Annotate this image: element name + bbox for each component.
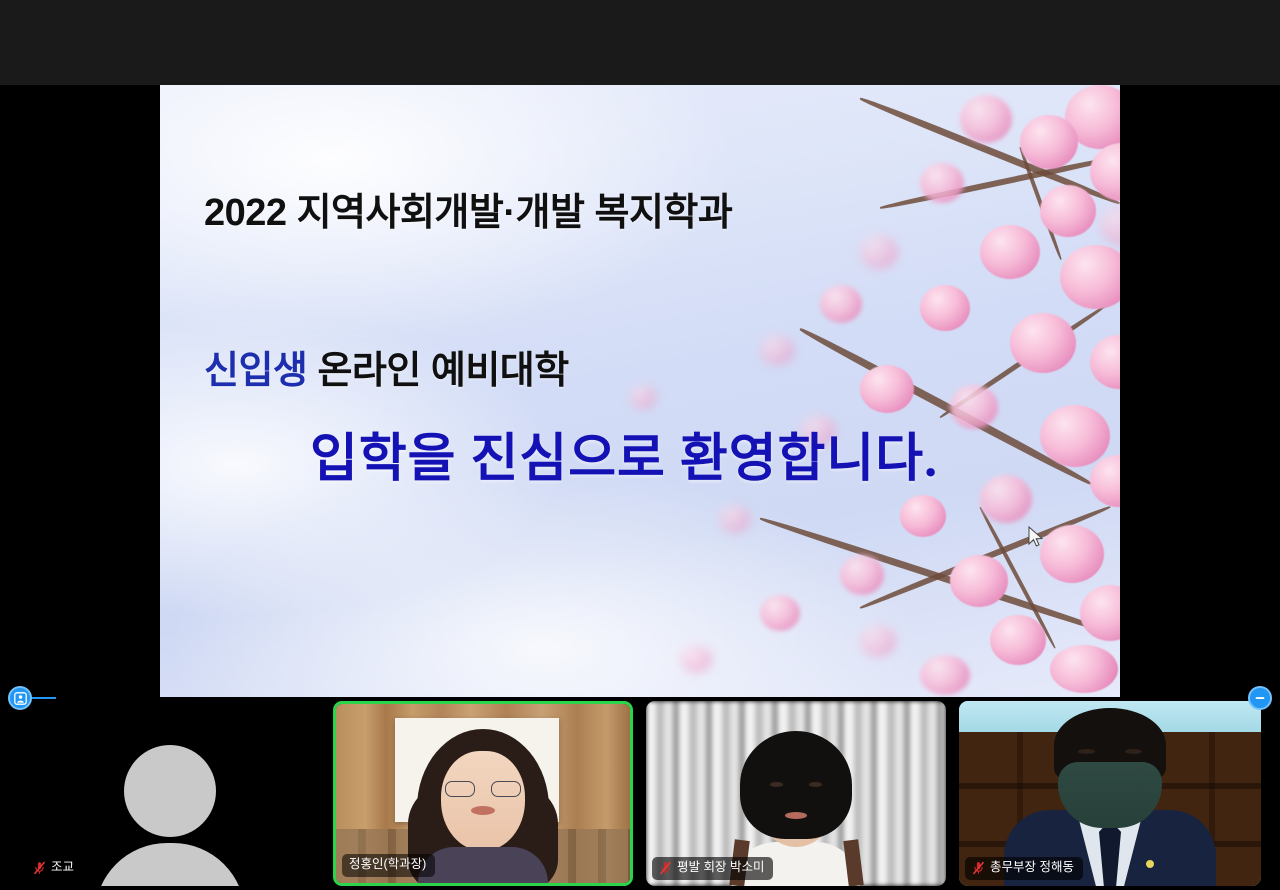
participant-filmstrip: 조교 정홍인(학과장) <box>0 697 1280 890</box>
mic-muted-icon <box>972 861 985 875</box>
participant-tile-1[interactable]: 조교 <box>20 701 320 886</box>
view-badge-stem <box>30 697 56 699</box>
minimize-button[interactable] <box>1248 686 1272 710</box>
participant-name-3: 평발 회장 박소미 <box>677 860 764 876</box>
participant-namebar-3: 평발 회장 박소미 <box>652 857 773 880</box>
participant-name-4: 총무부장 정해동 <box>990 860 1074 876</box>
participant-name-1: 조교 <box>51 860 74 876</box>
slide-title-line2-rest: 온라인 예비대학 <box>307 350 568 392</box>
participant-namebar-4: 총무부장 정해동 <box>965 857 1083 880</box>
participant-tile-3[interactable]: 평발 회장 박소미 <box>646 701 946 886</box>
participant-name-2: 정홍인(학과장) <box>349 857 426 873</box>
participant-tile-2[interactable]: 정홍인(학과장) <box>333 701 633 886</box>
slide-slogan: 입학을 진심으로 환영합니다. <box>310 430 1010 490</box>
mic-muted-icon <box>33 861 46 875</box>
shared-screen-stage[interactable]: 2022 지역사회개발·개발 복지학과 신입생 온라인 예비대학 입학을 진심으… <box>0 85 1280 697</box>
shared-slide: 2022 지역사회개발·개발 복지학과 신입생 온라인 예비대학 입학을 진심으… <box>160 85 1120 697</box>
mic-muted-icon <box>659 861 672 875</box>
minus-icon <box>1253 691 1267 705</box>
participant-portrait-icon[interactable] <box>8 686 32 710</box>
slide-title-line1: 2022 지역사회개발·개발 복지학과 <box>204 187 732 239</box>
participant-namebar-2: 정홍인(학과장) <box>342 854 435 877</box>
participant-tile-4[interactable]: 총무부장 정해동 <box>959 701 1261 886</box>
slide-title: 2022 지역사회개발·개발 복지학과 신입생 온라인 예비대학 <box>204 135 732 450</box>
slide-title-highlight: 신입생 <box>204 350 307 392</box>
top-letterbox-bar <box>0 0 1280 85</box>
slide-title-line2: 신입생 온라인 예비대학 <box>204 292 732 397</box>
participant-namebar-1: 조교 <box>26 857 83 880</box>
zoom-meeting-window: 2022 지역사회개발·개발 복지학과 신입생 온라인 예비대학 입학을 진심으… <box>0 0 1280 890</box>
